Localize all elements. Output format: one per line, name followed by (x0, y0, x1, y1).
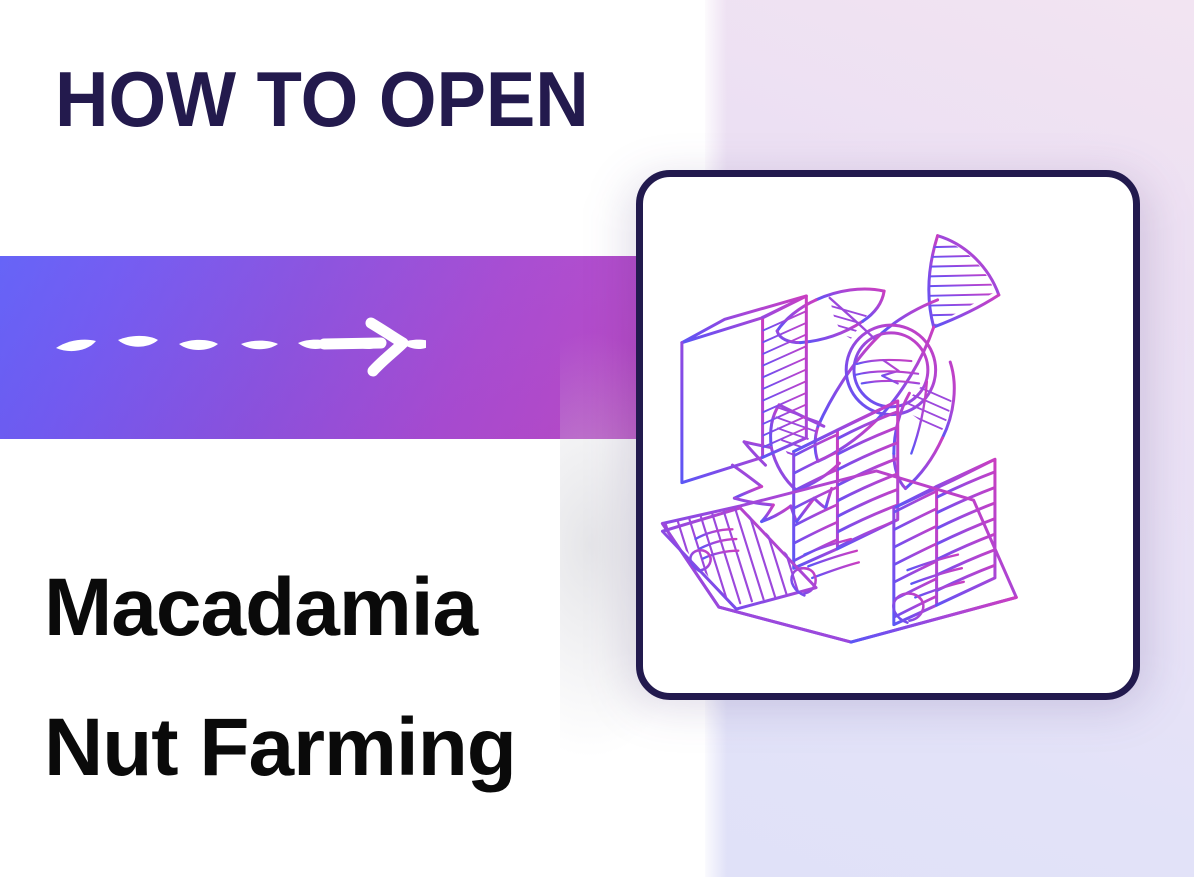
page-title: Macadamia Nut Farming (44, 538, 644, 818)
rocket-sketch (732, 236, 1004, 522)
poster-root: HOW TO OPEN Macadamia Nut Farming (0, 0, 1194, 877)
sketch-illustration (643, 177, 1133, 693)
dashed-arrow-right-icon (46, 310, 426, 382)
chart-base-sketch (662, 471, 1016, 642)
illustration-card (636, 170, 1140, 700)
page-title-line-2: Nut Farming (44, 678, 644, 818)
eyebrow-heading: HOW TO OPEN (55, 56, 589, 142)
bar-chart-sketch (682, 296, 1003, 625)
page-title-line-1: Macadamia (44, 538, 644, 678)
